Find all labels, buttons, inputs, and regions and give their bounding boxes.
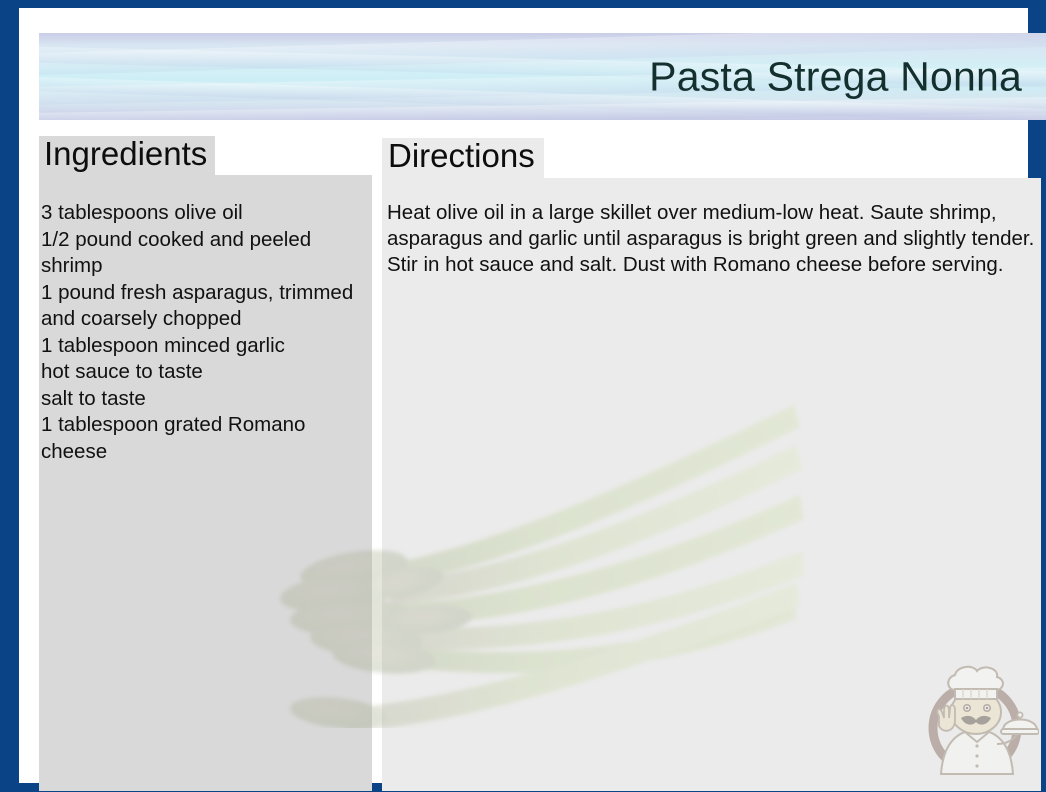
ingredients-heading-tab: Ingredients bbox=[39, 136, 215, 175]
directions-heading: Directions bbox=[388, 136, 535, 176]
ingredients-list: 3 tablespoons olive oil 1/2 pound cooked… bbox=[41, 200, 371, 465]
list-item: salt to taste bbox=[41, 386, 371, 413]
list-item: 1 pound fresh asparagus, trimmed and coa… bbox=[41, 280, 371, 333]
ingredients-heading: Ingredients bbox=[44, 134, 207, 173]
page-title: Pasta Strega Nonna bbox=[649, 56, 1022, 97]
list-item: 1 tablespoon grated Romano cheese bbox=[41, 412, 371, 465]
title-banner: Pasta Strega Nonna bbox=[39, 33, 1046, 120]
list-item: 1/2 pound cooked and peeled shrimp bbox=[41, 227, 371, 280]
list-item: hot sauce to taste bbox=[41, 359, 371, 386]
list-item: 3 tablespoons olive oil bbox=[41, 200, 371, 227]
directions-heading-tab: Directions bbox=[382, 138, 544, 178]
slide-canvas: Pasta Strega Nonna Ingredients 3 tablesp… bbox=[0, 0, 1046, 792]
slide-page: Pasta Strega Nonna Ingredients 3 tablesp… bbox=[19, 8, 1028, 783]
directions-text: Heat olive oil in a large skillet over m… bbox=[387, 200, 1037, 278]
list-item: 1 tablespoon minced garlic bbox=[41, 333, 371, 360]
